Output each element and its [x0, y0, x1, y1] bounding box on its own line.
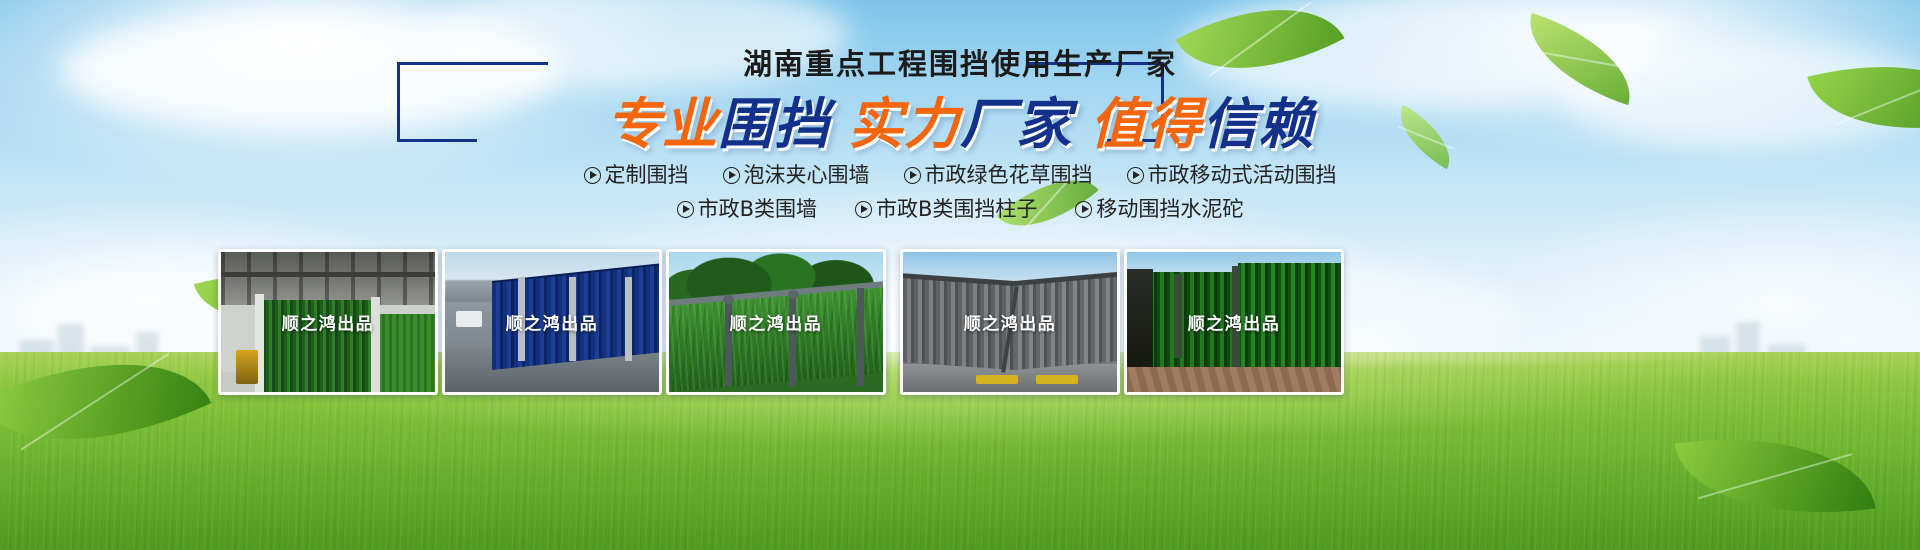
feature-item[interactable]: 定制围挡 — [584, 165, 689, 186]
feature-item[interactable]: 移动围挡水泥砣 — [1075, 199, 1243, 220]
banner-content: 湖南重点工程围挡使用生产厂家 专业围挡实力厂家值得信赖 定制围挡泡沫夹心围墙市政… — [0, 0, 1920, 550]
feature-item[interactable]: 泡沫夹心围墙 — [723, 165, 870, 186]
photo-watermark: 顺之鸿出品 — [669, 310, 883, 335]
banner-headline: 专业围挡实力厂家值得信赖 — [0, 96, 1920, 152]
photo-watermark: 顺之鸿出品 — [445, 310, 659, 335]
product-photo-5[interactable]: 顺之鸿出品 — [1124, 249, 1344, 395]
feature-label: 市政B类围挡柱子 — [876, 197, 1037, 221]
photo-watermark: 顺之鸿出品 — [903, 310, 1117, 335]
feature-label: 市政B类围墙 — [698, 197, 817, 221]
headline-segment-5: 值得 — [1090, 96, 1202, 152]
feature-label: 移动围挡水泥砣 — [1096, 197, 1243, 221]
product-photo-4[interactable]: 顺之鸿出品 — [900, 249, 1120, 395]
play-icon — [855, 201, 872, 218]
feature-list-row-1: 定制围挡泡沫夹心围墙市政绿色花草围挡市政移动式活动围挡 — [0, 164, 1920, 186]
headline-segment-6: 信赖 — [1202, 96, 1314, 152]
feature-item[interactable]: 市政绿色花草围挡 — [904, 165, 1093, 186]
product-photo-3[interactable]: 顺之鸿出品 — [666, 249, 886, 395]
headline-segment-2: 围挡 — [718, 96, 830, 152]
play-icon — [1075, 201, 1092, 218]
product-photo-2[interactable]: 顺之鸿出品 — [442, 249, 662, 395]
product-photo-strip: 顺之鸿出品 顺之鸿出品 — [0, 249, 1920, 395]
feature-label: 定制围挡 — [605, 163, 689, 187]
feature-item[interactable]: 市政B类围挡柱子 — [855, 199, 1037, 220]
headline-segment-4: 厂家 — [960, 96, 1072, 152]
photo-watermark: 顺之鸿出品 — [221, 310, 435, 335]
feature-label: 市政绿色花草围挡 — [925, 163, 1093, 187]
promo-banner: 湖南重点工程围挡使用生产厂家 专业围挡实力厂家值得信赖 定制围挡泡沫夹心围墙市政… — [0, 0, 1920, 550]
feature-list-row-2: 市政B类围墙市政B类围挡柱子移动围挡水泥砣 — [0, 198, 1920, 220]
photo-watermark: 顺之鸿出品 — [1127, 310, 1341, 335]
feature-item[interactable]: 市政移动式活动围挡 — [1127, 165, 1337, 186]
feature-item[interactable]: 市政B类围墙 — [677, 199, 817, 220]
feature-label: 市政移动式活动围挡 — [1148, 163, 1337, 187]
play-icon — [723, 167, 740, 184]
headline-segment-1: 专业 — [606, 96, 718, 152]
play-icon — [904, 167, 921, 184]
feature-label: 泡沫夹心围墙 — [744, 163, 870, 187]
play-icon — [677, 201, 694, 218]
headline-segment-3: 实力 — [848, 96, 960, 152]
banner-subtitle: 湖南重点工程围挡使用生产厂家 — [0, 50, 1920, 79]
product-photo-1[interactable]: 顺之鸿出品 — [218, 249, 438, 395]
play-icon — [584, 167, 601, 184]
play-icon — [1127, 167, 1144, 184]
